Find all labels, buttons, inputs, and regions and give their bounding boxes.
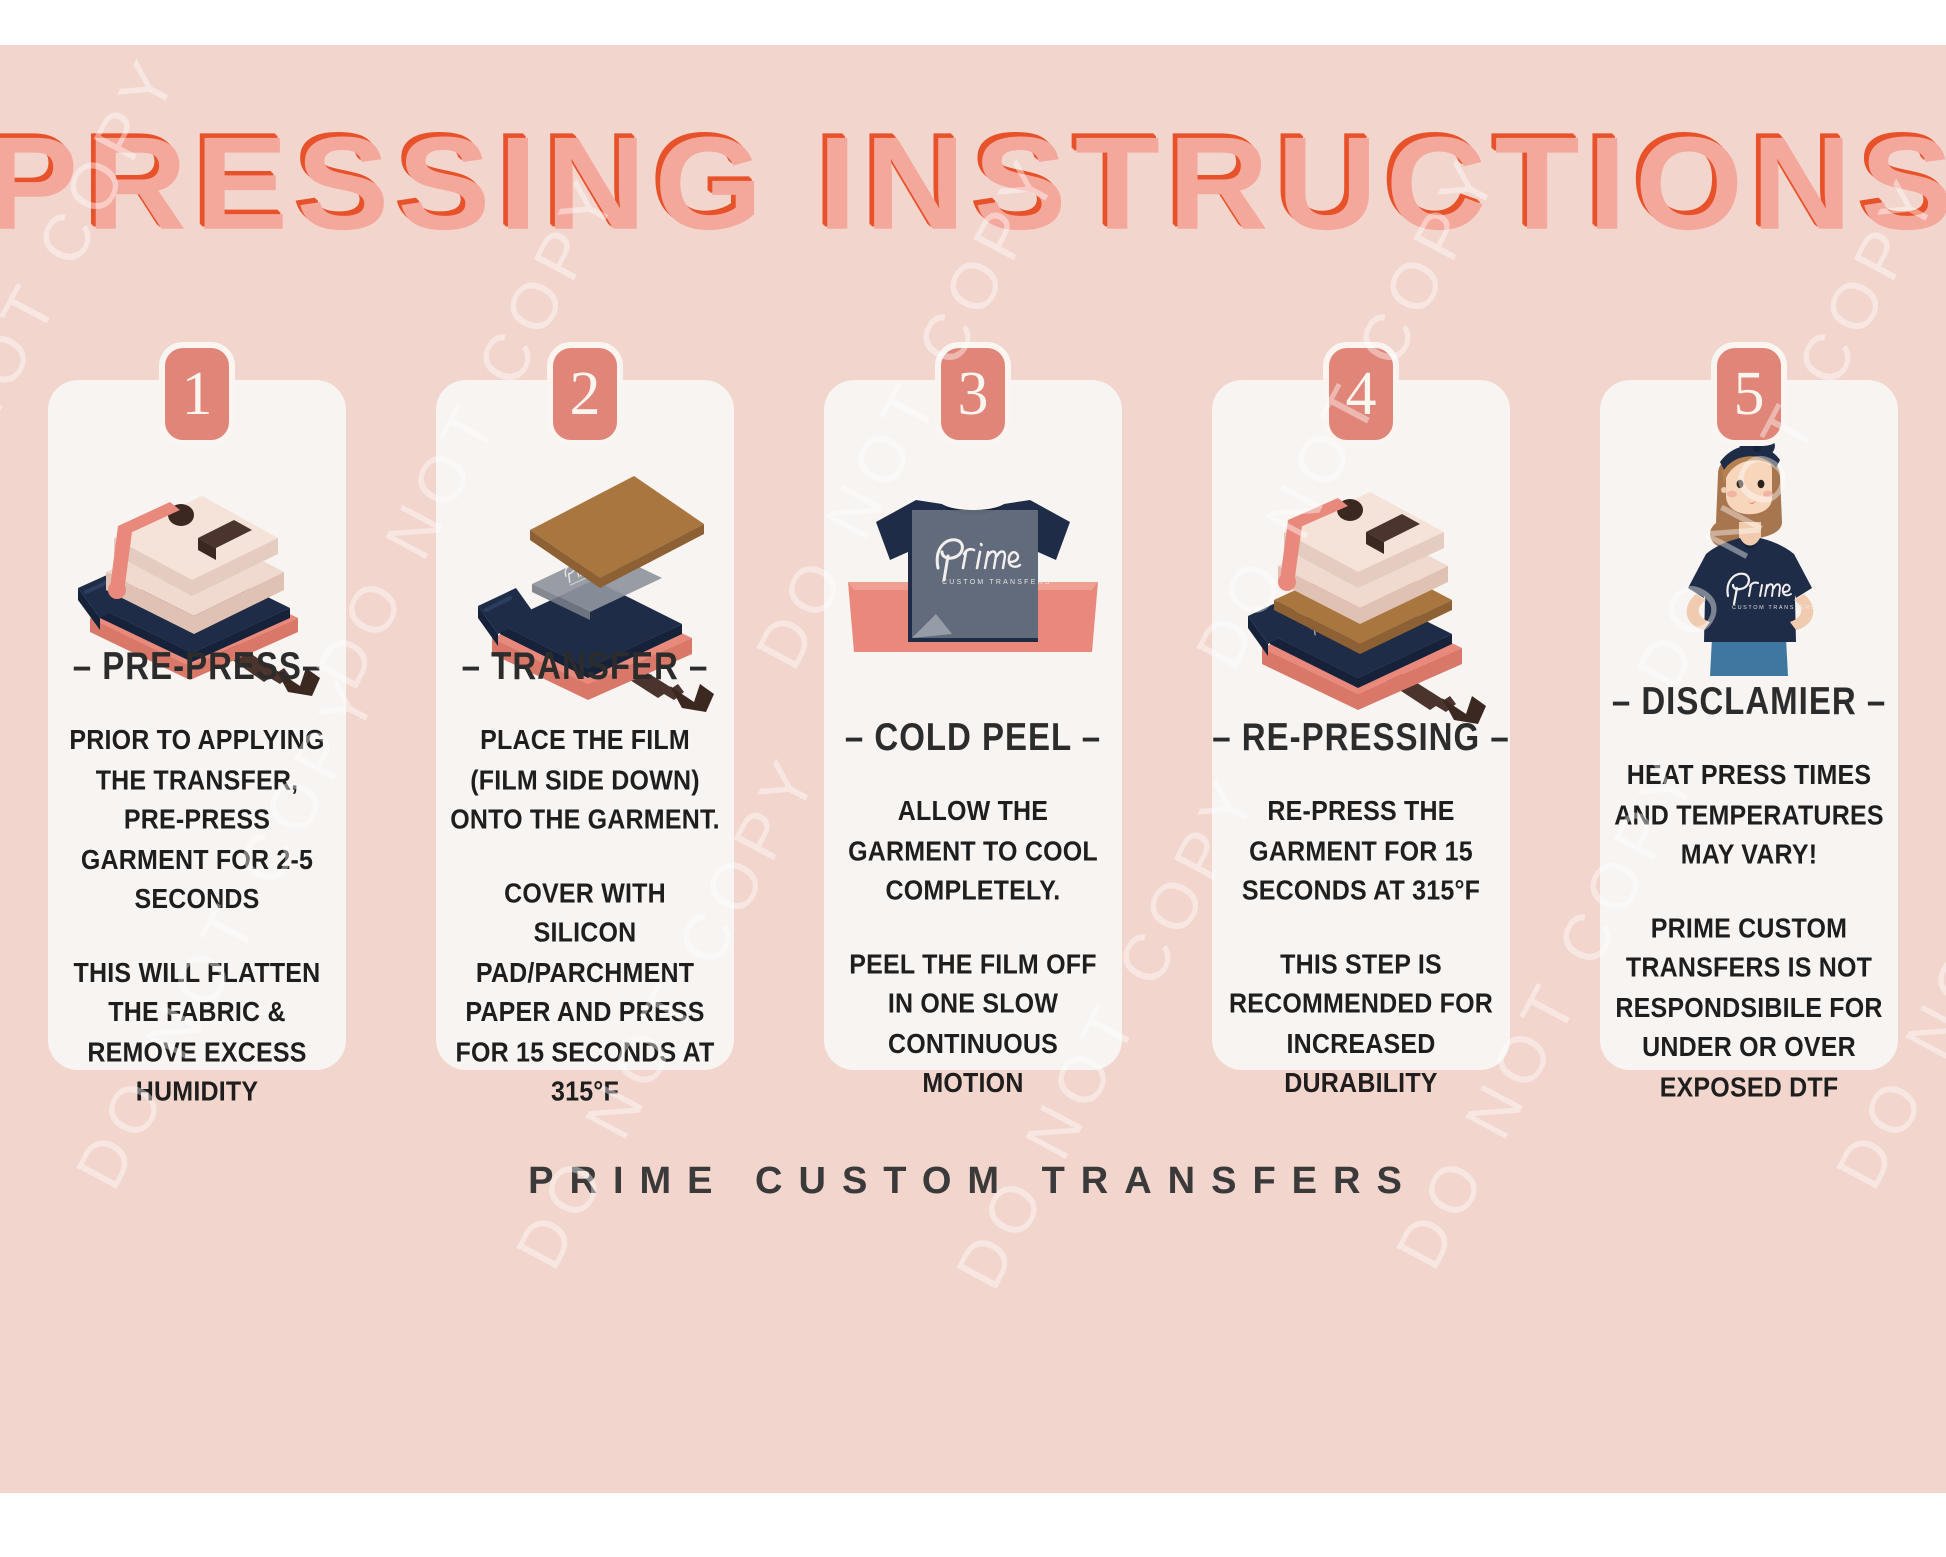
brand-footer: PRIME CUSTOM TRANSFERS [0,1160,1946,1203]
illustration-heat-press-repress [1212,420,1510,712]
step-paragraph: THIS STEP IS RECOMMENDED FOR INCREASED D… [1226,944,1496,1103]
svg-text:CUSTOM TRANSFERS: CUSTOM TRANSFERS [942,579,1052,586]
step-paragraph: COVER WITH SILICON PAD/PARCHMENT PAPER A… [450,873,720,1112]
page-title: PRESSING INSTRUCTIONS [0,118,1946,250]
step-paragraph: PEEL THE FILM OFF IN ONE SLOW CONTINUOUS… [838,944,1108,1103]
step-body-3: ALLOW THE GARMENT TO COOL COMPLETELY. PE… [824,792,1122,1104]
step-card-3: 3 [824,380,1122,1070]
poster-canvas: DO NOT COPY DO NOT COPY DO NOT COPY DO N… [0,45,1946,1493]
step-card-2: 2 [436,380,734,1070]
svg-text:CUSTOM TRANSFERS: CUSTOM TRANSFERS [1732,605,1816,611]
step-paragraph: PRIME CUSTOM TRANSFERS IS NOT RESPONDSIB… [1614,909,1884,1108]
step-paragraph: THIS WILL FLATTEN THE FABRIC & REMOVE EX… [62,953,332,1112]
step-number-badge-5: 5 [1711,342,1787,446]
step-body-4: RE-PRESS THE GARMENT FOR 15 SECONDS AT 3… [1212,792,1510,1104]
step-paragraph: ALLOW THE GARMENT TO COOL COMPLETELY. [838,792,1108,911]
step-paragraph: PLACE THE FILM (FILM SIDE DOWN) ONTO THE… [450,721,720,840]
step-body-1: PRIOR TO APPLYING THE TRANSFER, PRE-PRES… [48,721,346,1112]
step-card-5: 5 [1600,380,1898,1070]
step-number-badge-1: 1 [159,342,235,446]
step-card-1: 1 [48,380,346,1070]
illustration-heat-press-open [48,420,346,641]
step-number-badge-3: 3 [935,342,1011,446]
step-heading-3: – COLD PEEL – [845,714,1101,759]
step-paragraph: HEAT PRESS TIMES AND TEMPERATURES MAY VA… [1614,756,1884,875]
step-card-4: 4 [1212,380,1510,1070]
step-heading-1: – PRE-PRESS– [73,643,322,688]
illustration-woman-wearing-shirt: CUSTOM TRANSFERS [1600,420,1898,676]
illustration-film-and-parchment [436,420,734,641]
step-heading-4: – RE-PRESSING – [1212,714,1509,759]
step-body-2: PLACE THE FILM (FILM SIDE DOWN) ONTO THE… [436,721,734,1112]
step-paragraph: PRIOR TO APPLYING THE TRANSFER, PRE-PRES… [62,721,332,920]
step-number-badge-2: 2 [547,342,623,446]
steps-row: 1 [48,380,1898,1070]
step-number-badge-4: 4 [1323,342,1399,446]
poster-title-wrapper: PRESSING INSTRUCTIONS [0,125,1946,243]
step-heading-5: – DISCLAMIER – [1612,679,1886,724]
step-heading-2: – TRANSFER – [462,643,709,688]
step-body-5: HEAT PRESS TIMES AND TEMPERATURES MAY VA… [1600,756,1898,1108]
illustration-tshirt-with-film: CUSTOM TRANSFERS [824,420,1122,712]
step-paragraph: RE-PRESS THE GARMENT FOR 15 SECONDS AT 3… [1226,792,1496,911]
